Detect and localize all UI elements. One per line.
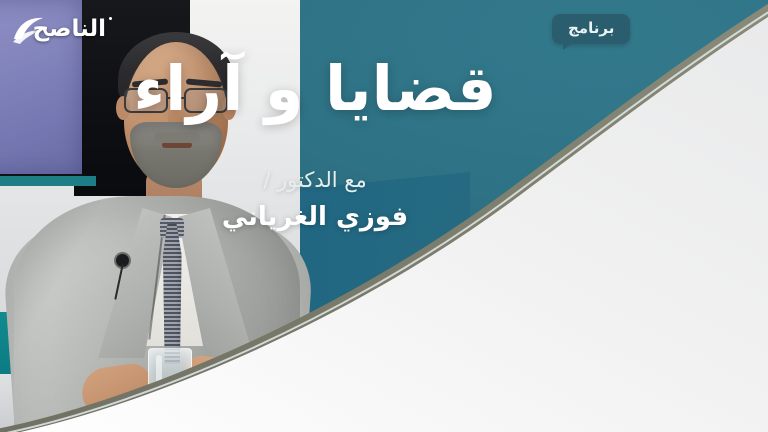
mustache xyxy=(154,132,200,143)
channel-logo[interactable]: الناصح xyxy=(14,16,106,50)
program-badge[interactable]: برنامج xyxy=(552,14,630,44)
program-title-card: الناصح برنامج قضايا و آراء مع الدكتور / … xyxy=(0,0,768,432)
program-title: قضايا و آراء xyxy=(100,56,530,123)
program-host-name: فوزي الغرياني xyxy=(100,202,530,232)
program-subtitle: مع الدكتور / xyxy=(100,168,530,192)
logo-registered-dot xyxy=(109,17,112,20)
channel-logo-text: الناصح xyxy=(33,18,106,41)
program-badge-label: برنامج xyxy=(568,19,614,37)
water-glass-icon xyxy=(148,348,192,410)
